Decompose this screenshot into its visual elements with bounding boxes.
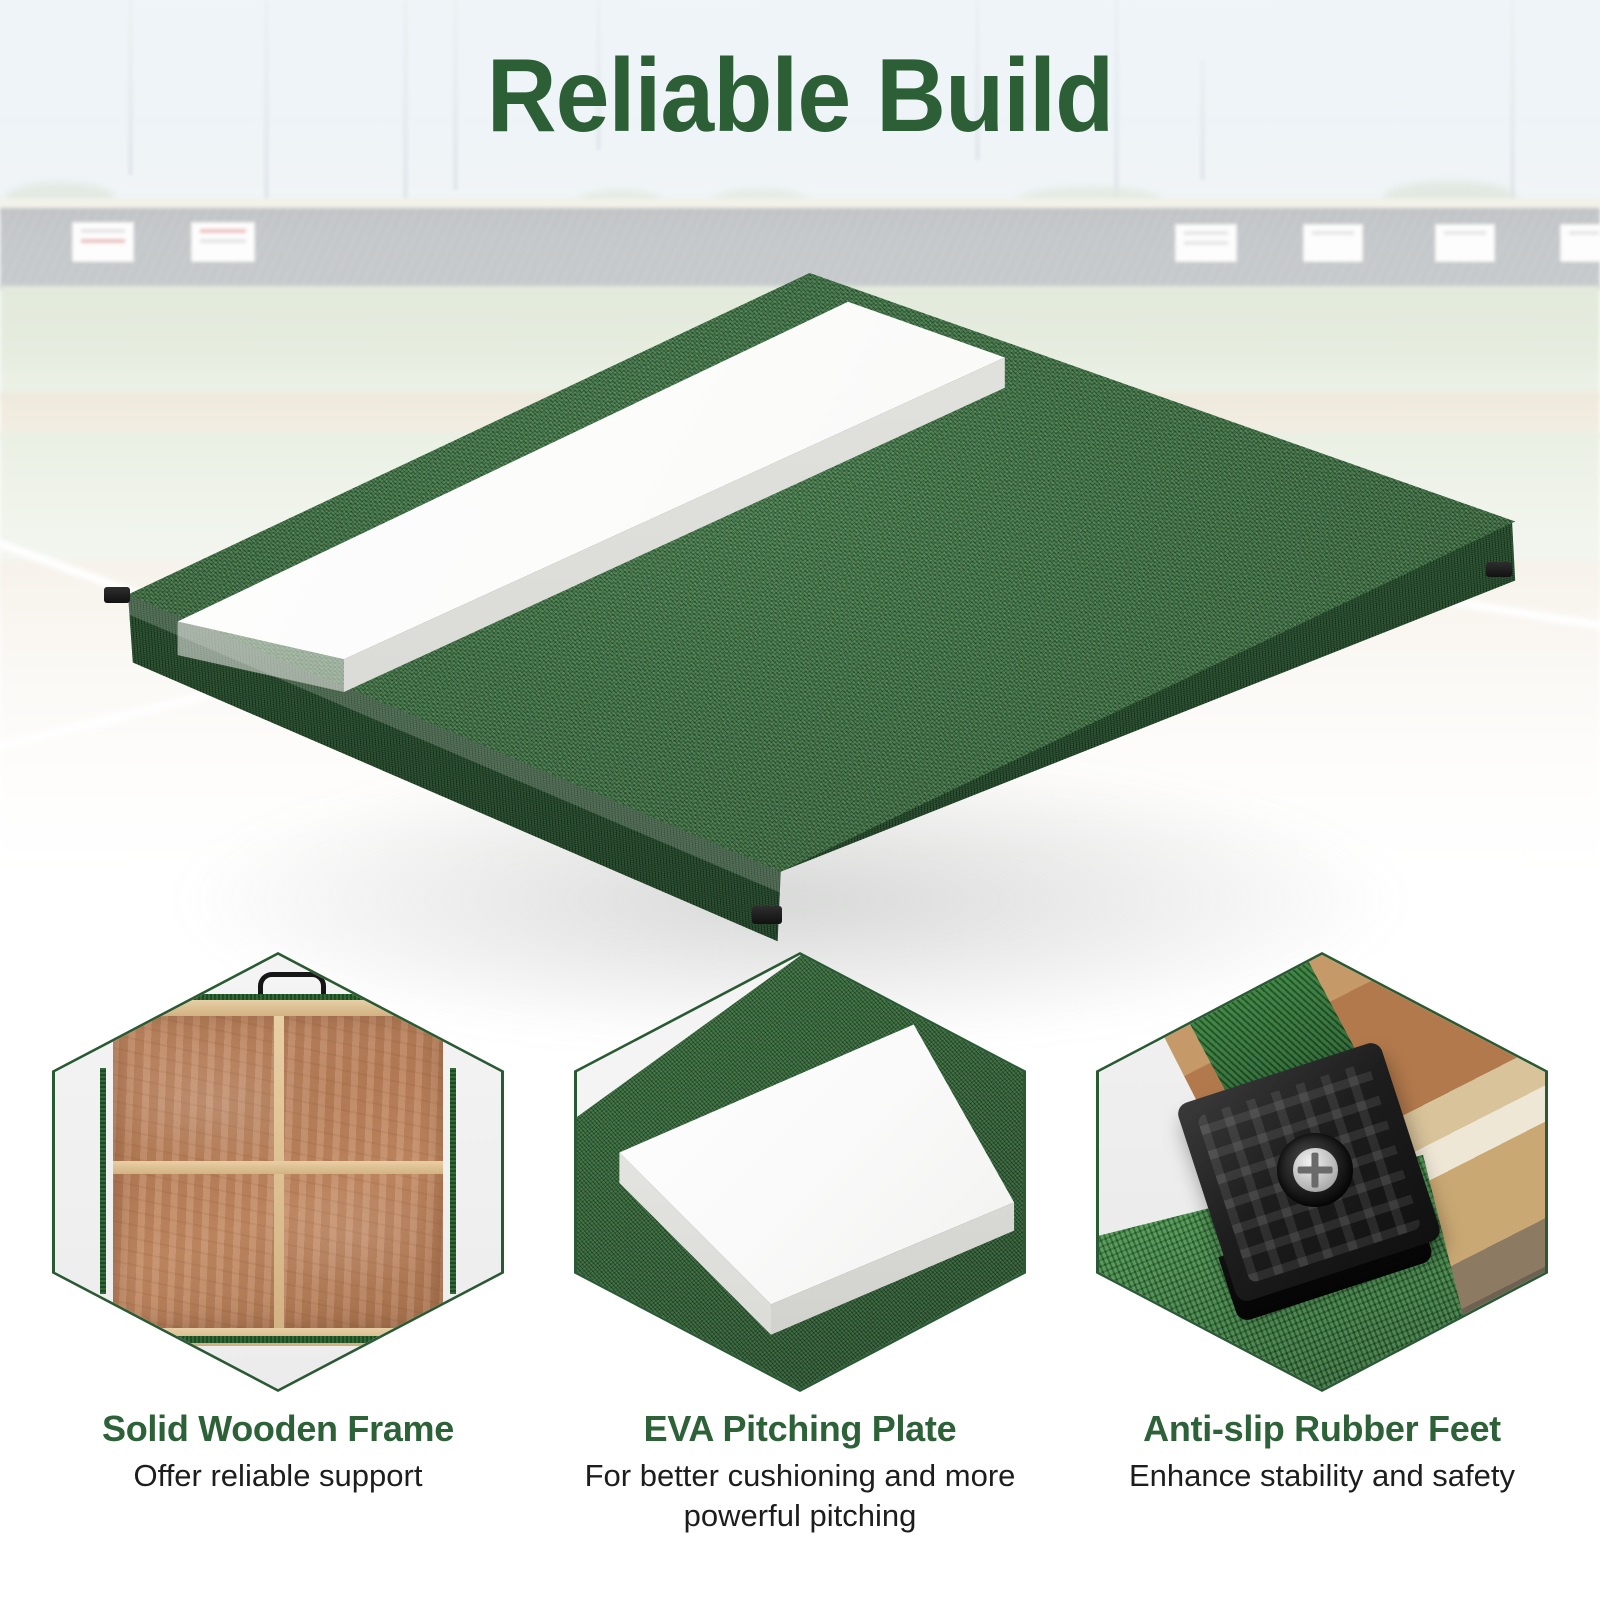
hexagon-frame [574, 952, 1026, 1392]
feature-description: Enhance stability and safety [1092, 1456, 1552, 1495]
rubber-foot-icon [104, 587, 130, 603]
eva-plate-icon [577, 955, 1023, 1389]
hexagon-image [577, 955, 1023, 1389]
page-title: Reliable Build [56, 42, 1544, 151]
rubber-foot-icon [1486, 562, 1512, 577]
rubber-foot-icon [1099, 955, 1545, 1389]
wooden-frame-icon [55, 955, 501, 1389]
feature-caption: Solid Wooden Frame Offer reliable suppor… [48, 1408, 508, 1496]
feature-card-eva-plate: EVA Pitching Plate For better cushioning… [570, 952, 1030, 1535]
hexagon-frame [1096, 952, 1548, 1392]
feature-title: Anti-slip Rubber Feet [1092, 1408, 1552, 1450]
hexagon-image [55, 955, 501, 1389]
feature-card-wooden-frame: Solid Wooden Frame Offer reliable suppor… [48, 952, 508, 1496]
feature-title: Solid Wooden Frame [48, 1408, 508, 1450]
screw-icon [1293, 1148, 1338, 1191]
hero-product-image [0, 150, 1600, 970]
hexagon-frame [52, 952, 504, 1392]
feature-card-rubber-feet: Anti-slip Rubber Feet Enhance stability … [1092, 952, 1552, 1496]
feature-caption: EVA Pitching Plate For better cushioning… [570, 1408, 1030, 1535]
feature-list: Solid Wooden Frame Offer reliable suppor… [0, 952, 1600, 1600]
feature-description: Offer reliable support [48, 1456, 508, 1495]
feature-description: For better cushioning and more powerful … [570, 1456, 1030, 1534]
feature-caption: Anti-slip Rubber Feet Enhance stability … [1092, 1408, 1552, 1496]
hexagon-image [1099, 955, 1545, 1389]
feature-title: EVA Pitching Plate [570, 1408, 1030, 1450]
rubber-foot-icon [752, 906, 782, 924]
